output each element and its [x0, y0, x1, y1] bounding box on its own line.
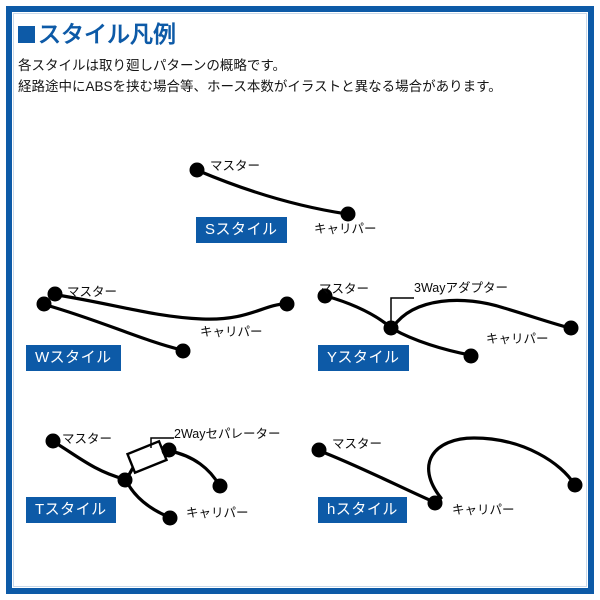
s-style-illustration [190, 163, 356, 222]
hose-routing-illustrations [14, 14, 586, 586]
t-style-2way-separator-box [127, 441, 166, 472]
filled-square-icon [18, 26, 35, 43]
w-style-hose-1 [57, 295, 286, 319]
s-style-master-node [190, 163, 205, 178]
y-style-hose-adapter-to-caliper-2 [393, 329, 470, 355]
header: スタイル凡例 各スタイルは取り廻しパターンの概略です。 経路途中にABSを挟む場… [18, 22, 578, 98]
badge-w-style[interactable]: Wスタイル [26, 345, 121, 371]
subtitle-block: 各スタイルは取り廻しパターンの概略です。 経路途中にABSを挟む場合等、ホース本… [18, 56, 578, 98]
w-style-hose-2 [46, 305, 182, 350]
w-style-caliper-label: キャリパー [200, 326, 263, 339]
t-style-2way-separator-label: 2Wayセパレーター [174, 428, 281, 441]
y-style-3way-adapter-label: 3Wayアダプター [414, 282, 508, 295]
y-style-illustration [318, 289, 579, 364]
diagram-area: マスター キャリパー マスター キャリパー マスター 3Wayアダプター キャリ… [14, 14, 586, 586]
s-style-caliper-node [341, 207, 356, 222]
t-style-master-node [46, 434, 61, 449]
y-style-hose-adapter-to-caliper-1 [393, 300, 570, 328]
s-style-master-label: マスター [210, 160, 260, 173]
t-style-master-label: マスター [62, 433, 112, 446]
h-style-caliper-node-2 [568, 478, 583, 493]
w-style-master-label: マスター [67, 286, 117, 299]
h-style-master-node [312, 443, 327, 458]
style-legend-page: スタイル凡例 各スタイルは取り廻しパターンの概略です。 経路途中にABSを挟む場… [0, 0, 600, 600]
y-style-master-node [318, 289, 333, 304]
w-style-caliper-node-2 [176, 344, 191, 359]
s-style-caliper-label: キャリパー [314, 223, 377, 236]
y-style-adapter-node [384, 321, 399, 336]
t-style-hose-joint-to-separator [126, 466, 134, 479]
t-style-caliper-label: キャリパー [186, 507, 249, 520]
t-style-separator-node [162, 443, 177, 458]
h-style-master-label: マスター [332, 438, 382, 451]
badge-y-style[interactable]: Yスタイル [318, 345, 409, 371]
w-style-master-node-1 [48, 287, 63, 302]
t-style-separator-leader-line [151, 438, 174, 448]
h-style-caliper-node-1 [428, 496, 443, 511]
badge-h-style[interactable]: hスタイル [318, 497, 407, 523]
w-style-master-node-2 [37, 297, 52, 312]
page-content: スタイル凡例 各スタイルは取り廻しパターンの概略です。 経路途中にABSを挟む場… [14, 14, 586, 586]
t-style-caliper-node-1 [213, 479, 228, 494]
h-style-hose-master-to-caliper [320, 451, 434, 502]
s-style-hose-1 [199, 171, 347, 214]
t-style-caliper-node-2 [163, 511, 178, 526]
w-style-illustration [37, 287, 295, 359]
h-style-hose-loop [429, 438, 574, 498]
t-style-hose-joint-to-caliper-2 [127, 482, 169, 517]
y-style-master-label: マスター [319, 283, 369, 296]
h-style-caliper-label: キャリパー [452, 504, 515, 517]
w-style-caliper-node-1 [280, 297, 295, 312]
t-style-hose-separator-to-caliper-1 [170, 451, 219, 485]
subtitle-line-1: 各スタイルは取り廻しパターンの概略です。 [18, 56, 578, 77]
badge-t-style[interactable]: Tスタイル [26, 497, 116, 523]
y-style-caliper-label: キャリパー [486, 333, 549, 346]
t-style-illustration [46, 434, 228, 526]
page-title: スタイル凡例 [18, 22, 578, 47]
t-style-hose-master-to-joint [54, 442, 124, 479]
y-style-adapter-leader-line [391, 298, 414, 326]
subtitle-line-2: 経路途中にABSを挟む場合等、ホース本数がイラストと異なる場合があります。 [18, 77, 578, 98]
y-style-caliper-node-1 [564, 321, 579, 336]
badge-s-style[interactable]: Sスタイル [196, 217, 287, 243]
page-title-text: スタイル凡例 [38, 22, 176, 47]
y-style-caliper-node-2 [464, 349, 479, 364]
h-style-illustration [312, 438, 583, 511]
t-style-joint-node [118, 473, 133, 488]
y-style-hose-master-to-adapter [326, 296, 389, 326]
